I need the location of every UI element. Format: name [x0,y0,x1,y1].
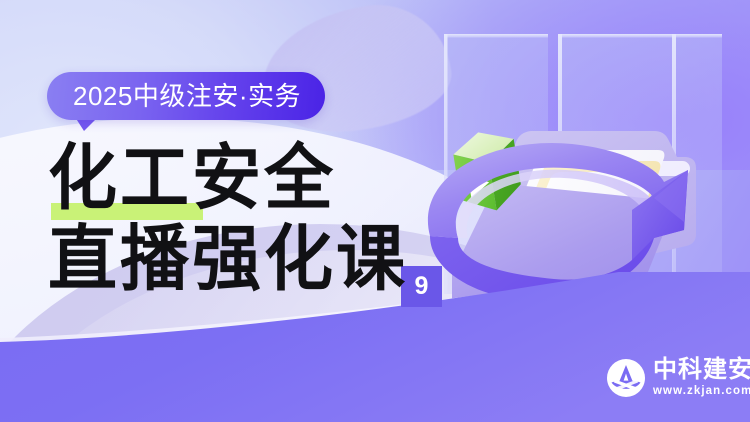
logo-text-block: 中科建安 www.zkjan.com [653,358,750,398]
person-circle-logo-icon [606,358,646,398]
headline-row-1: 化工安全 [48,145,518,214]
episode-number: 9 [415,274,429,299]
headline-line-2: 直播强化课 [48,223,408,295]
headline-block: 化工安全 直播强化课 [48,145,518,295]
course-tag-bubble: 2025中级注安·实务 [47,72,325,120]
course-banner: 2025中级注安·实务 化工安全 直播强化课 9 中科建安 www.zkjan.… [0,0,750,422]
brand-logo[interactable]: 中科建安 www.zkjan.com [606,358,750,398]
logo-company-name: 中科建安 [653,358,750,382]
course-tag-label: 2025中级注安·实务 [73,83,301,109]
headline-row-2: 直播强化课 [48,226,518,295]
headline-line-1: 化工安全 [48,142,336,214]
logo-website-url: www.zkjan.com [653,386,750,398]
